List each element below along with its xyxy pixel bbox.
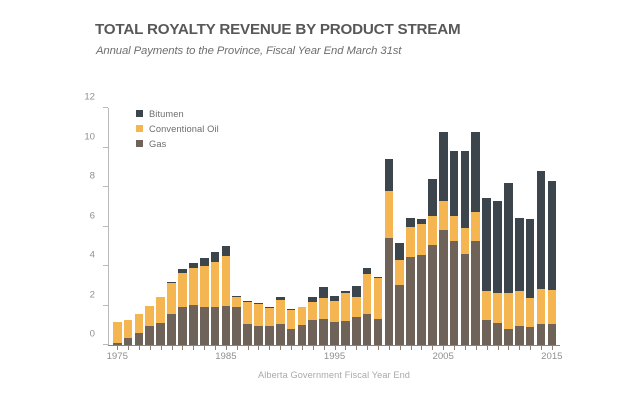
bar-segment-gas xyxy=(308,320,317,345)
bar-segment-bitumen xyxy=(211,252,220,262)
bar-segment-gas xyxy=(298,325,307,345)
bar-1986[interactable] xyxy=(232,296,241,345)
bar-segment-bitumen xyxy=(319,287,328,298)
bar-2000[interactable] xyxy=(385,159,394,345)
x-axis-tick xyxy=(182,345,183,350)
x-axis-tick xyxy=(389,345,390,350)
bar-1976[interactable] xyxy=(124,320,133,345)
bar-segment-conventional_oil xyxy=(167,283,176,315)
bar-1982[interactable] xyxy=(189,263,198,345)
x-axis-tick xyxy=(508,345,509,350)
x-axis-tick-label: 1985 xyxy=(215,351,236,362)
bar-segment-conventional_oil xyxy=(504,293,513,330)
bar-2005[interactable] xyxy=(439,132,448,345)
bar-segment-conventional_oil xyxy=(232,297,241,308)
bar-segment-conventional_oil xyxy=(287,310,296,329)
bar-segment-conventional_oil xyxy=(319,298,328,320)
bar-segment-conventional_oil xyxy=(308,302,317,321)
bar-segment-conventional_oil xyxy=(363,274,372,314)
x-axis-tick xyxy=(367,345,368,350)
x-axis-tick xyxy=(204,345,205,350)
x-axis-tick xyxy=(291,345,292,350)
bar-segment-conventional_oil xyxy=(254,304,263,327)
bar-1977[interactable] xyxy=(135,314,144,345)
bar-2004[interactable] xyxy=(428,179,437,345)
bar-segment-bitumen xyxy=(406,218,415,227)
x-axis-tick xyxy=(519,345,520,350)
bar-segment-conventional_oil xyxy=(515,291,524,327)
bar-segment-conventional_oil xyxy=(113,322,122,343)
bar-2008[interactable] xyxy=(471,132,480,345)
bar-1991[interactable] xyxy=(287,309,296,345)
x-axis-tick xyxy=(421,345,422,350)
x-axis-tick xyxy=(454,345,455,350)
y-axis-tick: 8 xyxy=(103,186,108,187)
bar-segment-gas xyxy=(461,254,470,345)
bar-segment-bitumen xyxy=(471,132,480,212)
x-axis-tick-label: 1995 xyxy=(324,351,345,362)
bar-segment-gas xyxy=(319,319,328,345)
y-axis-tick-label: 6 xyxy=(90,210,95,221)
bar-segment-bitumen xyxy=(537,171,546,289)
chart-page: TOTAL ROYALTY REVENUE BY PRODUCT STREAM … xyxy=(0,0,632,406)
bar-segment-gas xyxy=(406,257,415,345)
y-axis-line xyxy=(108,108,109,345)
x-axis-tick xyxy=(117,345,118,350)
bar-segment-conventional_oil xyxy=(461,228,470,255)
bar-2012[interactable] xyxy=(515,218,524,345)
bar-1989[interactable] xyxy=(265,307,274,345)
x-axis-tick xyxy=(335,345,336,350)
x-axis-tick xyxy=(411,345,412,350)
bar-1997[interactable] xyxy=(352,286,361,345)
y-axis-tick: 6 xyxy=(103,226,108,227)
bar-segment-conventional_oil xyxy=(135,314,144,333)
bar-1985[interactable] xyxy=(222,246,231,345)
bar-segment-bitumen xyxy=(352,286,361,297)
bar-segment-conventional_oil xyxy=(330,301,339,323)
bar-2002[interactable] xyxy=(406,218,415,345)
bar-segment-conventional_oil xyxy=(352,297,361,318)
y-axis-tick: 12 xyxy=(103,107,108,108)
x-axis-tick xyxy=(139,345,140,350)
bar-segment-gas xyxy=(515,326,524,345)
bar-2013[interactable] xyxy=(526,219,535,345)
bar-segment-gas xyxy=(167,314,176,345)
bar-1999[interactable] xyxy=(374,277,383,345)
bar-segment-gas xyxy=(537,324,546,345)
bar-segment-conventional_oil xyxy=(537,289,546,325)
bar-2001[interactable] xyxy=(395,243,404,345)
bar-1998[interactable] xyxy=(363,268,372,345)
bar-segment-gas xyxy=(189,305,198,345)
bar-segment-bitumen xyxy=(395,243,404,260)
bar-1996[interactable] xyxy=(341,291,350,345)
bar-segment-gas xyxy=(135,333,144,345)
x-axis-caption: Alberta Government Fiscal Year End xyxy=(108,370,560,380)
bar-segment-conventional_oil xyxy=(243,302,252,325)
bar-segment-gas xyxy=(450,241,459,345)
bar-2014[interactable] xyxy=(537,171,546,345)
bar-1980[interactable] xyxy=(167,282,176,345)
page-title: TOTAL ROYALTY REVENUE BY PRODUCT STREAM xyxy=(95,21,460,38)
bar-1979[interactable] xyxy=(156,297,165,345)
bar-segment-bitumen xyxy=(515,218,524,291)
bar-segment-conventional_oil xyxy=(526,298,535,328)
page-subtitle: Annual Payments to the Province, Fiscal … xyxy=(96,45,401,57)
bar-segment-gas xyxy=(232,307,241,345)
bar-segment-gas xyxy=(145,326,154,345)
bar-1993[interactable] xyxy=(308,297,317,345)
bar-segment-conventional_oil xyxy=(482,291,491,321)
bar-1978[interactable] xyxy=(145,306,154,345)
x-axis-tick xyxy=(258,345,259,350)
bar-segment-bitumen xyxy=(504,183,513,293)
bar-segment-conventional_oil xyxy=(200,266,209,306)
bar-segment-conventional_oil xyxy=(341,293,350,322)
bar-2015[interactable] xyxy=(548,181,557,345)
x-axis-tick xyxy=(324,345,325,350)
x-axis-tick xyxy=(498,345,499,350)
bar-segment-gas xyxy=(352,317,361,345)
bar-segment-conventional_oil xyxy=(428,216,437,246)
bar-2003[interactable] xyxy=(417,219,426,345)
bar-1990[interactable] xyxy=(276,297,285,345)
bar-segment-gas xyxy=(243,324,252,345)
bar-segment-conventional_oil xyxy=(439,201,448,231)
x-axis-tick xyxy=(269,345,270,350)
bar-segment-bitumen xyxy=(450,151,459,215)
y-axis-tick: 2 xyxy=(103,305,108,306)
bar-segment-bitumen xyxy=(493,201,502,293)
bar-segment-conventional_oil xyxy=(211,262,220,306)
x-axis-tick xyxy=(161,345,162,350)
bar-segment-gas xyxy=(124,338,133,345)
bar-segment-conventional_oil xyxy=(385,191,394,238)
bar-segment-conventional_oil xyxy=(178,273,187,308)
bar-segment-gas xyxy=(504,329,513,345)
x-axis-tick-label: 1975 xyxy=(107,351,128,362)
bar-segment-gas xyxy=(330,322,339,345)
x-axis-tick xyxy=(443,345,444,350)
x-axis-tick xyxy=(476,345,477,350)
x-axis-tick xyxy=(248,345,249,350)
bar-segment-bitumen xyxy=(482,198,491,291)
bar-2009[interactable] xyxy=(482,198,491,345)
x-axis-tick-label: 2015 xyxy=(541,351,562,362)
y-axis-tick-label: 8 xyxy=(90,171,95,182)
bar-segment-conventional_oil xyxy=(417,224,426,256)
x-axis-tick xyxy=(128,345,129,350)
plot-area: 024681012 19751985199520052015 Alberta G… xyxy=(108,108,560,345)
bar-segment-gas xyxy=(439,230,448,345)
bar-segment-bitumen xyxy=(439,132,448,201)
bar-1975[interactable] xyxy=(113,322,122,345)
bar-1988[interactable] xyxy=(254,303,263,345)
bar-1984[interactable] xyxy=(211,252,220,345)
bar-1981[interactable] xyxy=(178,269,187,345)
bar-segment-bitumen xyxy=(461,151,470,227)
bar-segment-conventional_oil xyxy=(406,227,415,258)
bar-segment-gas xyxy=(395,285,404,345)
x-axis-tick xyxy=(226,345,227,350)
x-axis-tick xyxy=(345,345,346,350)
x-axis-tick xyxy=(302,345,303,350)
x-axis-tick xyxy=(541,345,542,350)
x-axis-tick xyxy=(172,345,173,350)
bar-segment-conventional_oil xyxy=(222,256,231,305)
bar-segment-gas xyxy=(363,314,372,345)
bar-segment-conventional_oil xyxy=(471,212,480,242)
x-axis-tick xyxy=(530,345,531,350)
x-axis-tick xyxy=(150,345,151,350)
x-axis-tick xyxy=(280,345,281,350)
bar-2007[interactable] xyxy=(461,151,470,345)
x-axis-tick-label: 2005 xyxy=(433,351,454,362)
bar-segment-gas xyxy=(548,324,557,345)
bar-segment-bitumen xyxy=(526,219,535,298)
bar-segment-gas xyxy=(265,326,274,345)
bar-segment-bitumen xyxy=(428,179,437,216)
x-axis-tick xyxy=(356,345,357,350)
bar-segment-gas xyxy=(526,327,535,345)
bar-1992[interactable] xyxy=(298,307,307,346)
bar-1994[interactable] xyxy=(319,287,328,345)
bar-segment-bitumen xyxy=(222,246,231,256)
y-axis-tick-label: 0 xyxy=(90,329,95,340)
x-axis-tick xyxy=(552,345,553,350)
bar-segment-bitumen xyxy=(385,159,394,191)
y-axis-tick: 4 xyxy=(103,265,108,266)
bar-segment-conventional_oil xyxy=(450,216,459,242)
y-axis-tick-label: 12 xyxy=(84,92,95,103)
bar-segment-gas xyxy=(156,323,165,345)
bar-segment-gas xyxy=(254,326,263,345)
x-axis-tick xyxy=(237,345,238,350)
x-axis-tick xyxy=(193,345,194,350)
bar-segment-gas xyxy=(211,307,220,346)
bar-segment-gas xyxy=(374,319,383,345)
y-axis-tick: 10 xyxy=(103,147,108,148)
x-axis-tick xyxy=(215,345,216,350)
x-axis-tick xyxy=(313,345,314,350)
x-axis-tick xyxy=(400,345,401,350)
bar-segment-bitumen xyxy=(548,181,557,290)
y-axis-tick-label: 10 xyxy=(84,131,95,142)
bar-segment-gas xyxy=(471,241,480,345)
bar-segment-conventional_oil xyxy=(145,306,154,327)
bar-segment-gas xyxy=(276,324,285,345)
bar-segment-bitumen xyxy=(200,258,209,266)
bar-2010[interactable] xyxy=(493,201,502,345)
bar-segment-conventional_oil xyxy=(493,293,502,324)
bar-segment-gas xyxy=(287,329,296,345)
bar-segment-gas xyxy=(200,307,209,346)
bar-segment-gas xyxy=(178,307,187,345)
bar-segment-conventional_oil xyxy=(548,290,557,325)
bar-segment-gas xyxy=(385,238,394,345)
x-axis-tick xyxy=(432,345,433,350)
bar-segment-gas xyxy=(493,323,502,345)
bar-segment-gas xyxy=(222,306,231,346)
bar-1987[interactable] xyxy=(243,301,252,345)
bar-segment-conventional_oil xyxy=(156,297,165,324)
bar-segment-conventional_oil xyxy=(395,260,404,285)
x-axis-tick xyxy=(378,345,379,350)
bar-segment-gas xyxy=(428,245,437,345)
bar-1983[interactable] xyxy=(200,258,209,345)
bar-segment-gas xyxy=(113,343,122,345)
bar-2006[interactable] xyxy=(450,151,459,345)
x-axis-tick xyxy=(487,345,488,350)
bar-1995[interactable] xyxy=(330,296,339,345)
bar-segment-conventional_oil xyxy=(265,308,274,327)
x-axis-tick xyxy=(465,345,466,350)
bar-segment-conventional_oil xyxy=(298,307,307,325)
bar-segment-gas xyxy=(417,255,426,345)
bar-segment-gas xyxy=(341,321,350,345)
y-axis-tick: 0 xyxy=(103,344,108,345)
bar-segment-conventional_oil xyxy=(124,320,133,338)
bar-segment-conventional_oil xyxy=(189,268,198,305)
bar-segment-conventional_oil xyxy=(374,278,383,319)
bar-segment-gas xyxy=(482,320,491,345)
y-axis-tick-label: 2 xyxy=(90,289,95,300)
bar-2011[interactable] xyxy=(504,183,513,345)
bar-segment-conventional_oil xyxy=(276,300,285,325)
y-axis-tick-label: 4 xyxy=(90,250,95,261)
